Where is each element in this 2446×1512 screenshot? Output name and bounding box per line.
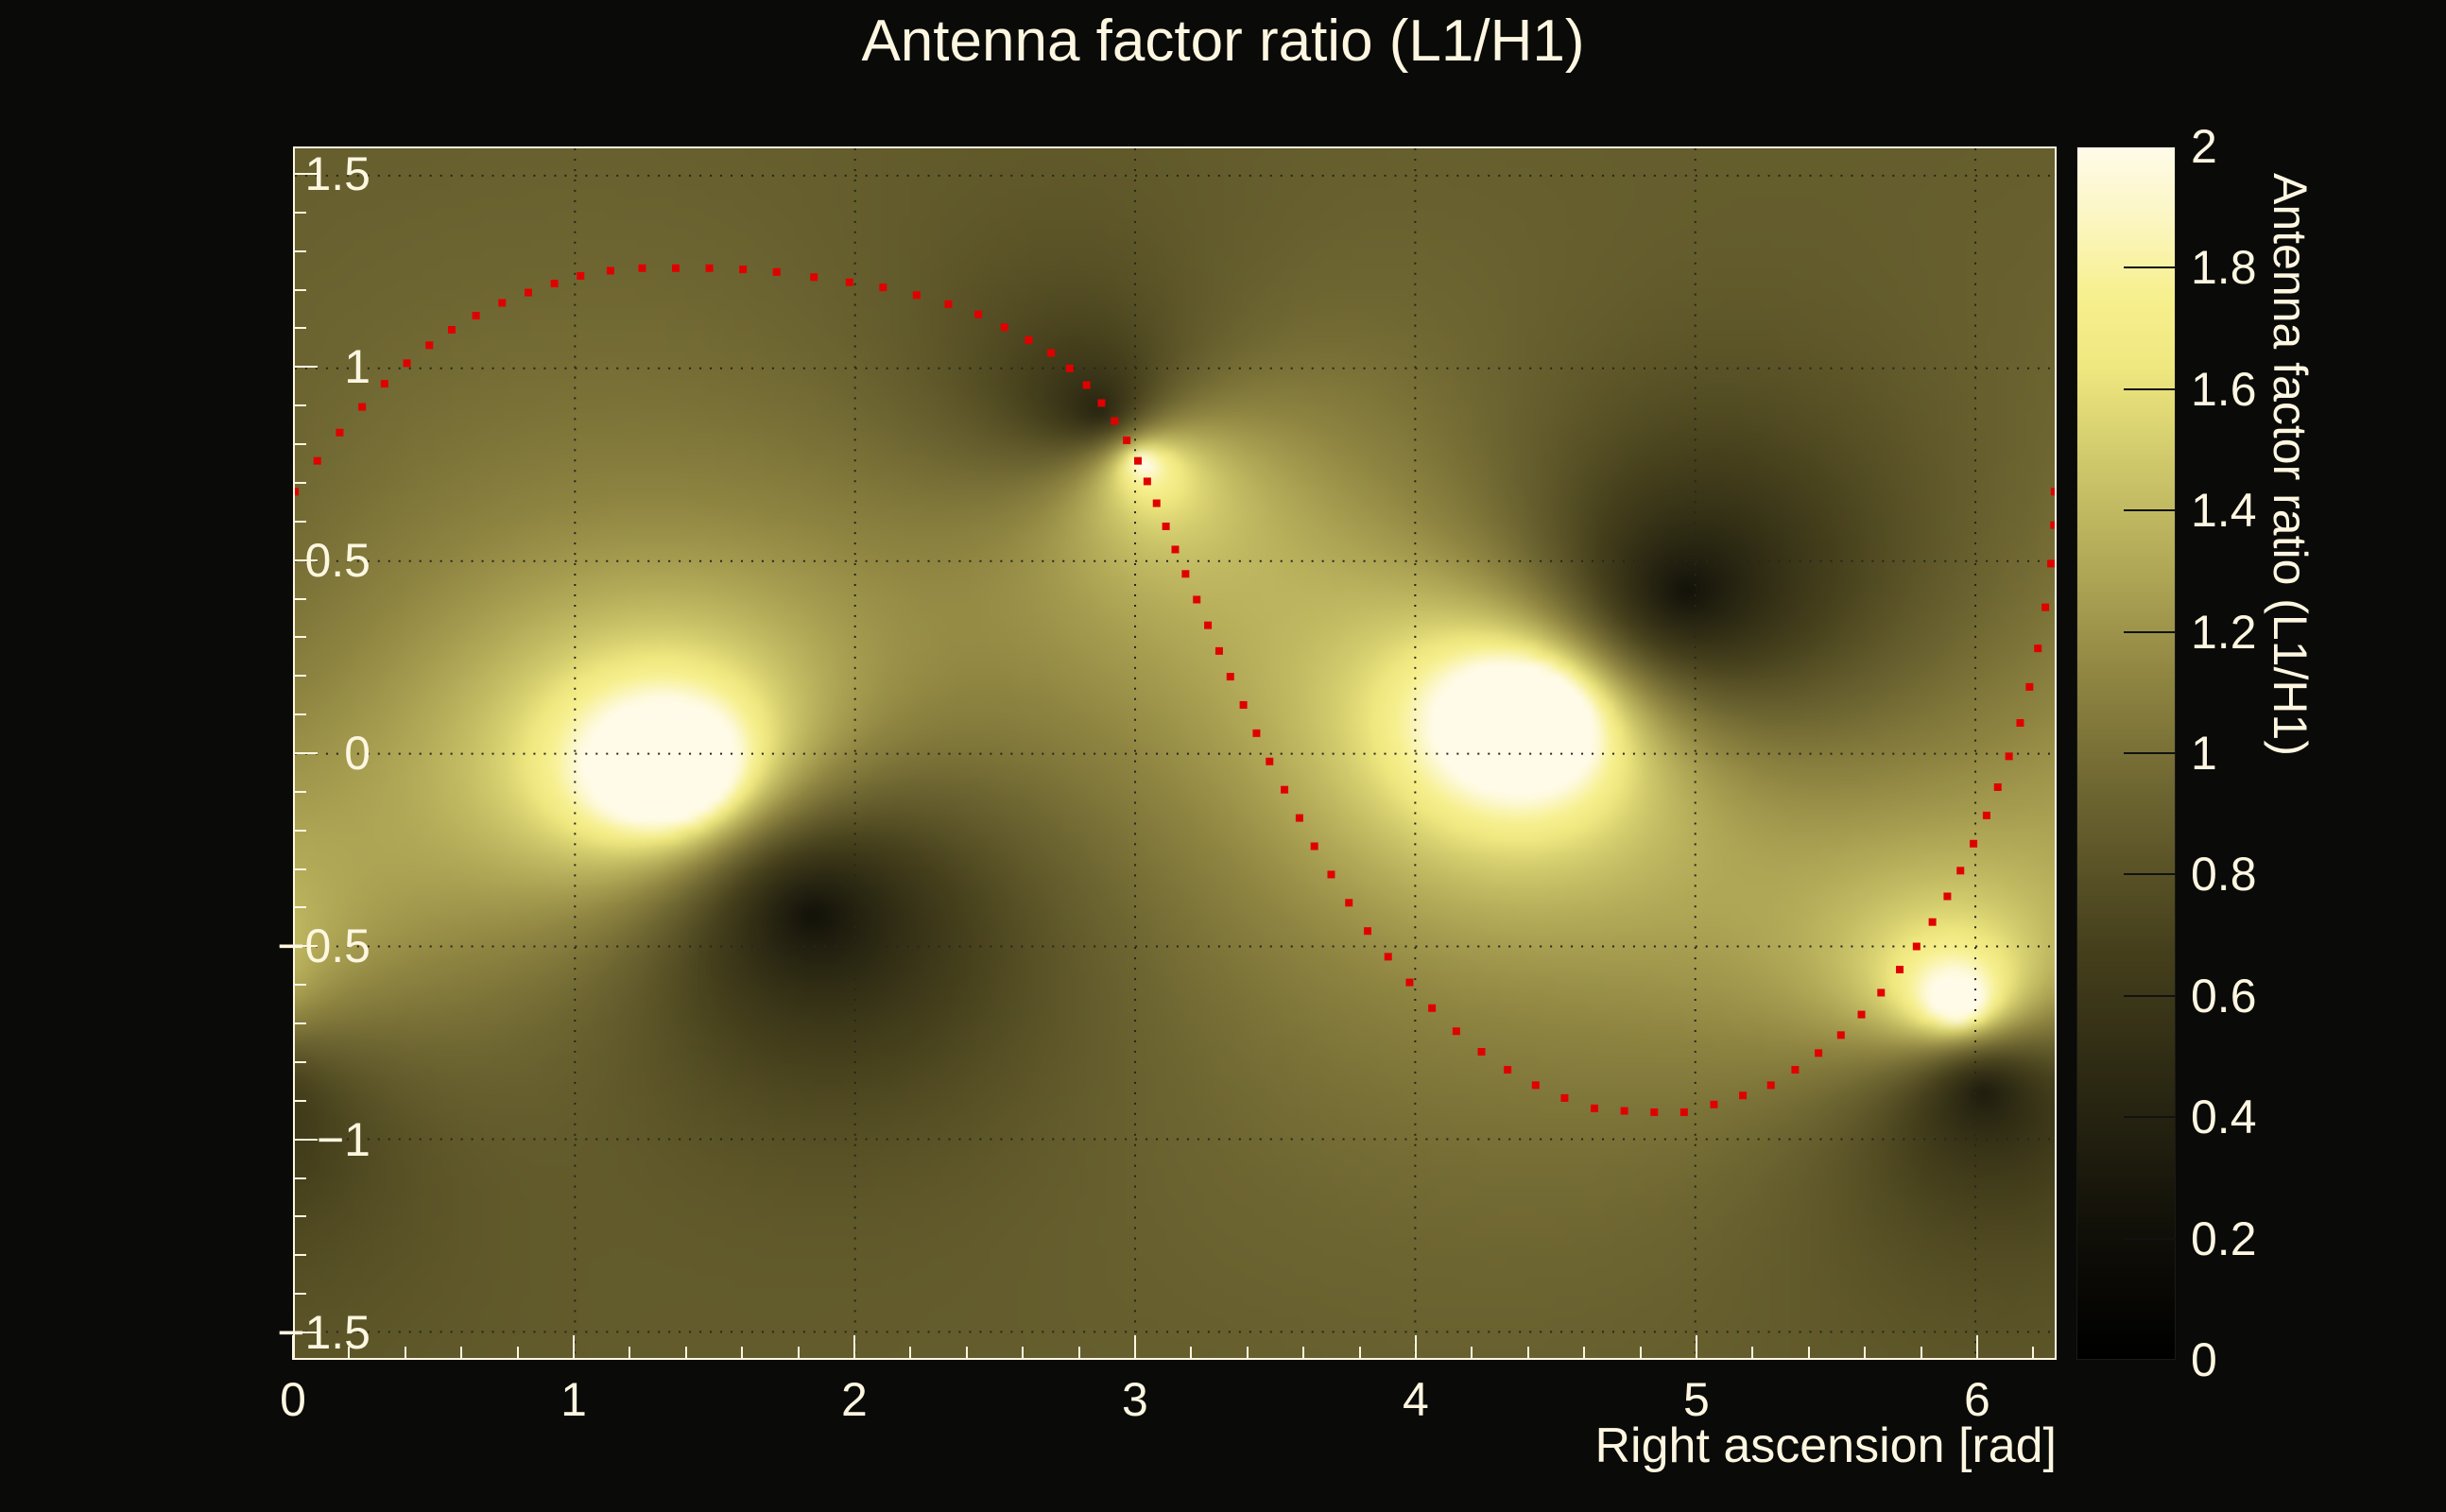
y-axis-minor-tick xyxy=(293,791,306,793)
y-axis-tick-label: 0.5 xyxy=(219,533,370,588)
x-axis-minor-tick xyxy=(2032,1347,2034,1360)
colorbar-tick xyxy=(2124,752,2176,754)
y-axis-tick-label: 1 xyxy=(219,339,370,394)
y-axis-minor-tick xyxy=(293,250,306,252)
y-axis-minor-tick xyxy=(293,482,306,484)
x-axis-minor-tick xyxy=(909,1347,911,1360)
x-axis-minor-tick xyxy=(741,1347,743,1360)
x-axis-minor-tick xyxy=(629,1347,630,1360)
y-axis-tick-label: −1 xyxy=(219,1112,370,1167)
x-axis-minor-tick xyxy=(1808,1347,1810,1360)
x-axis-minor-tick xyxy=(1415,1347,1417,1360)
x-axis-title: Right ascension [rad] xyxy=(0,1417,2057,1474)
y-axis-minor-tick xyxy=(293,713,306,715)
colorbar-tick-label: 2 xyxy=(2191,119,2217,174)
x-axis-minor-tick xyxy=(1134,1347,1136,1360)
x-axis-minor-tick xyxy=(1864,1347,1866,1360)
colorbar-tick xyxy=(2124,509,2176,511)
x-axis-minor-tick xyxy=(1471,1347,1473,1360)
x-axis-minor-tick xyxy=(1022,1347,1024,1360)
colorbar-tick xyxy=(2124,1116,2176,1118)
y-axis-minor-tick xyxy=(293,1293,306,1295)
colorbar-tick xyxy=(2124,1238,2176,1240)
x-axis-minor-tick xyxy=(405,1347,406,1360)
x-axis-minor-tick xyxy=(1527,1347,1529,1360)
x-axis-minor-tick xyxy=(1583,1347,1585,1360)
x-axis-minor-tick xyxy=(1921,1347,1922,1360)
chart-canvas: Antenna factor ratio (L1/H1) 1.510.50−0.… xyxy=(0,0,2446,1512)
y-axis-minor-tick xyxy=(293,289,306,291)
y-axis-minor-tick xyxy=(293,1215,306,1217)
x-axis-minor-tick xyxy=(1976,1347,1978,1360)
colorbar-tick-label: 1.6 xyxy=(2191,362,2257,417)
x-axis-minor-tick xyxy=(853,1347,855,1360)
y-axis-minor-tick xyxy=(293,868,306,870)
colorbar-tick xyxy=(2124,631,2176,633)
x-axis-minor-tick xyxy=(1078,1347,1080,1360)
y-axis-minor-tick xyxy=(293,830,306,832)
colorbar-tick-label: 1.4 xyxy=(2191,483,2257,538)
heatmap-plot-area xyxy=(293,146,2057,1360)
y-axis-minor-tick xyxy=(293,404,306,406)
y-axis-minor-tick xyxy=(293,1100,306,1102)
x-axis-minor-tick xyxy=(1640,1347,1642,1360)
colorbar-tick-label: 1.8 xyxy=(2191,240,2257,295)
x-axis-minor-tick xyxy=(798,1347,800,1360)
x-axis-minor-tick xyxy=(1302,1347,1304,1360)
y-axis-tick-label: 0 xyxy=(219,726,370,781)
y-axis-minor-tick xyxy=(293,636,306,638)
y-axis-minor-tick xyxy=(293,1254,306,1256)
colorbar-tick-label: 0.2 xyxy=(2191,1211,2257,1266)
y-axis-minor-tick xyxy=(293,675,306,677)
x-axis-minor-tick xyxy=(1696,1347,1697,1360)
colorbar-tick-label: 1 xyxy=(2191,726,2217,781)
y-axis-minor-tick xyxy=(293,1022,306,1024)
x-axis-minor-tick xyxy=(1190,1347,1192,1360)
x-axis-minor-tick xyxy=(966,1347,968,1360)
colorbar-tick-label: 0.6 xyxy=(2191,969,2257,1023)
heatmap-image xyxy=(295,148,2055,1358)
colorbar-tick-label: 0 xyxy=(2191,1332,2217,1387)
y-axis-minor-tick xyxy=(293,984,306,986)
colorbar-tick xyxy=(2124,995,2176,997)
y-axis-minor-tick xyxy=(293,443,306,445)
y-axis-minor-tick xyxy=(293,1061,306,1063)
y-axis-tick-label: 1.5 xyxy=(219,146,370,201)
x-axis-minor-tick xyxy=(460,1347,462,1360)
x-axis-minor-tick xyxy=(573,1347,575,1360)
x-axis-minor-tick xyxy=(685,1347,687,1360)
y-axis-tick-label: −1.5 xyxy=(219,1305,370,1360)
y-axis-minor-tick xyxy=(293,598,306,600)
colorbar-tick-label: 0.8 xyxy=(2191,847,2257,902)
x-axis-minor-tick xyxy=(1359,1347,1361,1360)
colorbar-tick xyxy=(2124,266,2176,268)
y-axis-tick-label: −0.5 xyxy=(219,919,370,973)
colorbar-tick-label: 0.4 xyxy=(2191,1090,2257,1144)
colorbar-title: Antenna factor ratio (L1/H1) xyxy=(2263,173,2317,756)
y-axis-minor-tick xyxy=(293,327,306,329)
colorbar-tick xyxy=(2124,873,2176,875)
y-axis-minor-tick xyxy=(293,1177,306,1179)
x-axis-minor-tick xyxy=(517,1347,519,1360)
y-axis-minor-tick xyxy=(293,212,306,214)
y-axis-minor-tick xyxy=(293,906,306,908)
page-title: Antenna factor ratio (L1/H1) xyxy=(0,8,2446,75)
x-axis-minor-tick xyxy=(1247,1347,1249,1360)
colorbar-tick-label: 1.2 xyxy=(2191,605,2257,660)
y-axis-minor-tick xyxy=(293,521,306,523)
x-axis-minor-tick xyxy=(1751,1347,1753,1360)
colorbar-tick xyxy=(2124,388,2176,390)
